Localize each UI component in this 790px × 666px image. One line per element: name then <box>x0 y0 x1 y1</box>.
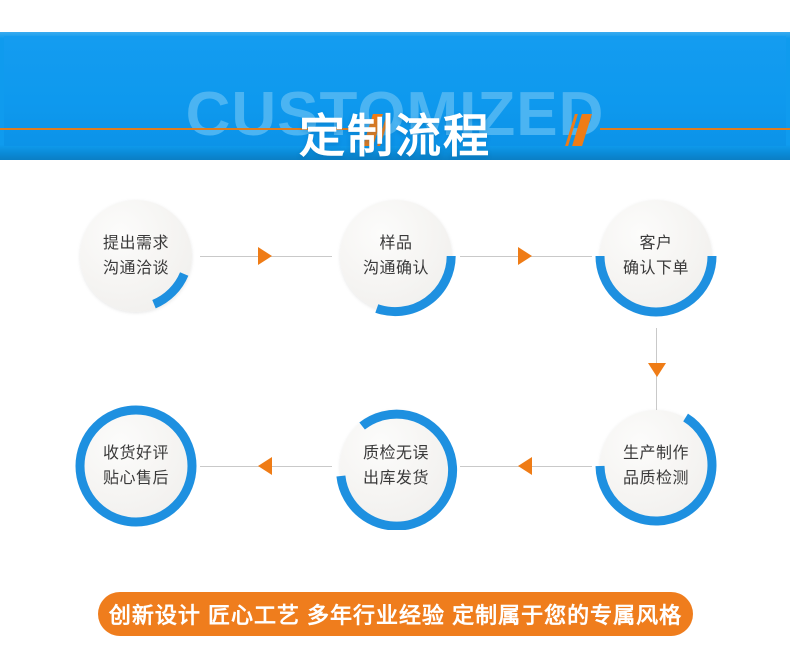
step-label-line1: 客户 <box>639 231 672 256</box>
step-label-line2: 贴心售后 <box>103 466 169 491</box>
arrow-step1-to-step2-icon <box>258 247 272 265</box>
process-step-4[interactable]: 生产制作 品质检测 <box>592 402 720 530</box>
step-label: 生产制作 品质检测 <box>592 402 720 530</box>
process-step-3[interactable]: 客户 确认下单 <box>592 192 720 320</box>
step-label-line1: 生产制作 <box>623 441 689 466</box>
footer-slogan-text: 创新设计 匠心工艺 多年行业经验 定制属于您的专属风格 <box>109 598 682 630</box>
step-label: 客户 确认下单 <box>592 192 720 320</box>
page-title: 定制流程 <box>0 108 790 160</box>
step-label-line2: 沟通确认 <box>363 256 429 281</box>
step-label-line1: 质检无误 <box>363 441 429 466</box>
step-label-line1: 收货好评 <box>103 441 169 466</box>
arrow-step3-to-step4-icon <box>648 363 666 377</box>
process-step-5[interactable]: 质检无误 出库发货 <box>332 402 460 530</box>
step-label-line2: 确认下单 <box>623 256 689 281</box>
process-flow-area: 提出需求 沟通洽谈 样品 沟通确认 客户 确认下单 <box>0 160 790 580</box>
process-step-6[interactable]: 收货好评 贴心售后 <box>72 402 200 530</box>
step-label-line1: 样品 <box>379 231 412 256</box>
arrow-step4-to-step5-icon <box>518 457 532 475</box>
step-label: 提出需求 沟通洽谈 <box>72 192 200 320</box>
step-label-line2: 品质检测 <box>623 466 689 491</box>
step-label-line2: 沟通洽谈 <box>103 256 169 281</box>
process-step-1[interactable]: 提出需求 沟通洽谈 <box>72 192 200 320</box>
header-banner: CUSTOMIZED 定制流程 <box>0 32 790 160</box>
footer-slogan-banner: 创新设计 匠心工艺 多年行业经验 定制属于您的专属风格 <box>98 592 693 636</box>
arrow-step2-to-step3-icon <box>518 247 532 265</box>
step-label-line2: 出库发货 <box>363 466 429 491</box>
process-step-2[interactable]: 样品 沟通确认 <box>332 192 460 320</box>
arrow-step5-to-step6-icon <box>258 457 272 475</box>
step-label: 收货好评 贴心售后 <box>72 402 200 530</box>
step-label: 质检无误 出库发货 <box>332 402 460 530</box>
step-label: 样品 沟通确认 <box>332 192 460 320</box>
step-label-line1: 提出需求 <box>103 231 169 256</box>
customization-process-infographic: CUSTOMIZED 定制流程 <box>0 0 790 666</box>
